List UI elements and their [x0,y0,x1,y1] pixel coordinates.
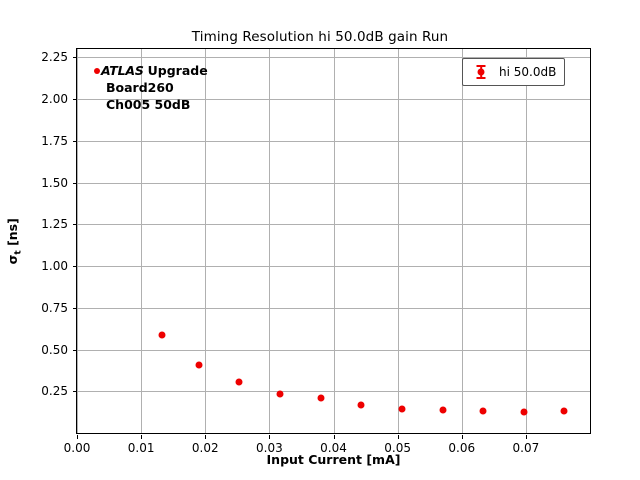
atlas-dot-icon [94,68,100,74]
data-point [561,408,568,415]
chart-figure: Timing Resolution hi 50.0dB gain Run σt … [0,0,640,480]
x-axis-tick [334,435,335,439]
x-gridline [398,49,399,433]
x-gridline [462,49,463,433]
x-axis-tick-label: 0.05 [384,441,411,455]
annotation-line-2: Board260 [106,79,208,96]
data-point [277,390,284,397]
x-axis-tick [462,435,463,439]
y-axis-tick-label: 1.25 [41,217,68,231]
y-axis-tick-label: 1.50 [41,176,68,190]
legend[interactable]: hi 50.0dB [462,58,565,86]
x-axis-tick-label: 0.01 [128,441,155,455]
annotation-block: ATLAS Upgrade Board260 Ch005 50dB [94,62,208,113]
y-axis-tick-label: 1.75 [41,134,68,148]
x-axis-tick [205,435,206,439]
y-axis-tick-label: 2.25 [41,50,68,64]
legend-item-label: hi 50.0dB [499,65,556,79]
x-axis-tick [77,435,78,439]
x-gridline [526,49,527,433]
annotation-line-3: Ch005 50dB [106,96,208,113]
y-gridline [77,224,590,225]
y-axis-label-text: σt [ns] [5,218,24,264]
data-point [317,395,324,402]
y-axis-tick [73,308,77,309]
annotation-brand-suffix: Upgrade [148,63,208,78]
y-axis-tick-label: 0.75 [41,301,68,315]
page-title: Timing Resolution hi 50.0dB gain Run [0,29,640,45]
x-gridline [77,49,78,433]
x-axis-tick [269,435,270,439]
y-axis-tick [73,350,77,351]
x-axis-tick-label: 0.00 [64,441,91,455]
data-point [358,402,365,409]
annotation-brand: ATLAS [101,63,144,78]
x-axis-tick-label: 0.06 [448,441,475,455]
data-point [479,408,486,415]
y-gridline [77,391,590,392]
data-point [439,406,446,413]
data-point [520,408,527,415]
y-axis-tick [73,224,77,225]
legend-marker-icon [469,64,493,80]
x-axis-tick-label: 0.02 [192,441,219,455]
y-axis-tick-label: 2.00 [41,92,68,106]
x-axis-tick-label: 0.04 [320,441,347,455]
x-axis-tick-label: 0.07 [513,441,540,455]
annotation-line-1: ATLAS Upgrade [94,62,208,79]
y-gridline [77,266,590,267]
y-axis-tick-label: 1.00 [41,259,68,273]
x-axis-tick [398,435,399,439]
y-axis-tick [73,99,77,100]
y-gridline [77,141,590,142]
y-gridline [77,183,590,184]
x-gridline [334,49,335,433]
data-point [399,406,406,413]
x-gridline [269,49,270,433]
y-axis-label: σt [ns] [4,48,24,434]
x-axis-tick [526,435,527,439]
data-point [236,379,243,386]
y-gridline [77,308,590,309]
y-axis-tick [73,391,77,392]
y-axis-tick [73,141,77,142]
y-axis-tick-label: 0.25 [41,384,68,398]
y-gridline [77,350,590,351]
y-axis-tick [73,183,77,184]
y-axis-tick [73,57,77,58]
y-axis-tick-label: 0.50 [41,343,68,357]
x-axis-tick-label: 0.03 [256,441,283,455]
x-axis-tick [141,435,142,439]
data-point [158,331,165,338]
y-axis-tick [73,266,77,267]
data-point [195,362,202,369]
